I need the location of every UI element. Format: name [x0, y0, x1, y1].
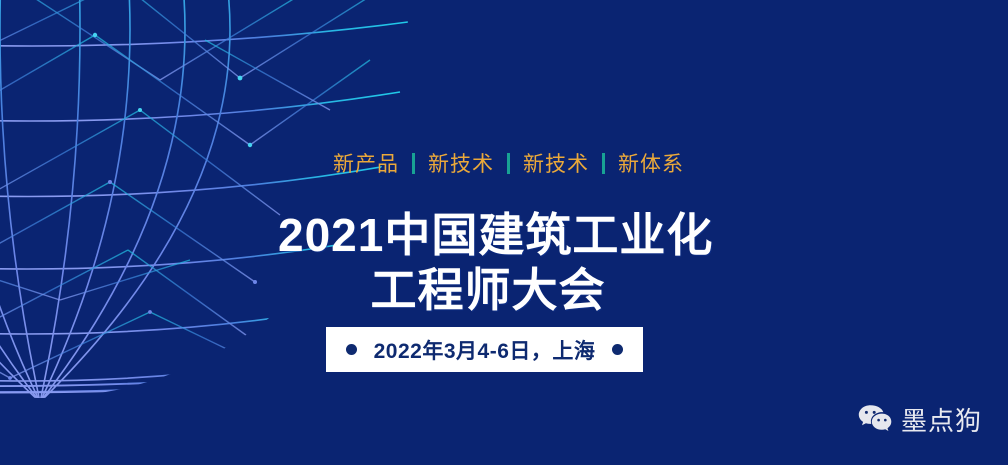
date-location-text: 2022年3月4-6日，上海	[374, 335, 596, 365]
date-location-badge: 2022年3月4-6日，上海	[326, 327, 643, 372]
eyebrow-separator-2	[507, 153, 510, 174]
eyebrow-item-3: 新技术	[523, 148, 589, 178]
title-line-1: 2021中国建筑工业化	[278, 208, 698, 263]
wechat-icon	[858, 404, 892, 437]
title-line-2: 工程师大会	[278, 263, 698, 318]
eyebrow-item-4: 新体系	[618, 148, 684, 178]
bullet-dot-right-icon	[612, 344, 623, 355]
watermark: 墨点狗	[858, 404, 982, 437]
banner-content: 新产品 新技术 新技术 新体系 2021中国建筑工业化 工程师大会 2022年3…	[0, 0, 1008, 465]
eyebrow-item-2: 新技术	[428, 148, 494, 178]
eyebrow-separator-3	[602, 153, 605, 174]
eyebrow-keywords: 新产品 新技术 新技术 新体系	[333, 148, 684, 178]
watermark-account-name: 墨点狗	[901, 408, 982, 434]
eyebrow-item-1: 新产品	[333, 148, 399, 178]
eyebrow-separator-1	[412, 153, 415, 174]
bullet-dot-left-icon	[346, 344, 357, 355]
page-title: 2021中国建筑工业化 工程师大会	[278, 208, 698, 318]
conference-banner: 新产品 新技术 新技术 新体系 2021中国建筑工业化 工程师大会 2022年3…	[0, 0, 1008, 465]
